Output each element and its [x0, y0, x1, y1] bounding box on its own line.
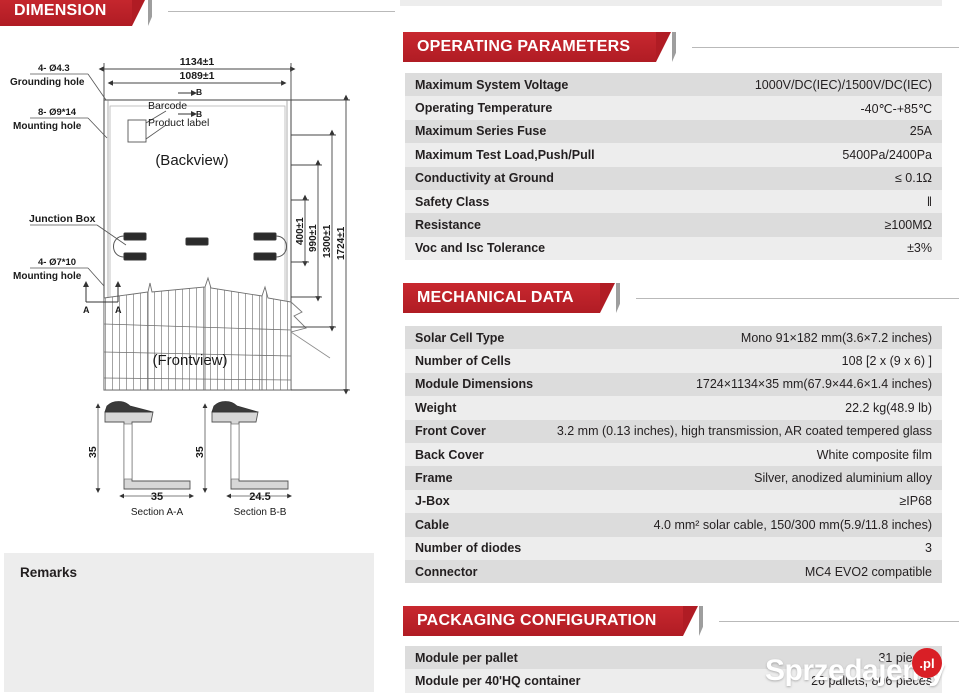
packaging-configuration-banner: PACKAGING CONFIGURATION: [403, 606, 959, 636]
dim-400: 400±1: [295, 217, 306, 245]
operating-parameter-value: 1000V/DC(IEC)/1500V/DC(IEC): [755, 78, 932, 92]
dimension-banner-label: DIMENSION: [0, 0, 132, 26]
table-row: Voc and Isc Tolerance±3%: [405, 237, 942, 260]
mechanical-data-value: ≥IP68: [899, 494, 932, 508]
section-a-width: 35: [151, 491, 163, 503]
mounting-hole-label-2: Mounting hole: [13, 271, 82, 282]
dim-1300: 1300±1: [322, 224, 333, 258]
mechanical-data-label: J-Box: [415, 494, 450, 508]
section-marker-a1: A: [83, 305, 90, 315]
junction-box-callout: Junction Box: [29, 213, 96, 225]
banner-chevron-icon: [699, 606, 725, 636]
specifications-panel: OPERATING PARAMETERS Maximum System Volt…: [400, 0, 960, 699]
section-marker-a2: A: [115, 305, 122, 315]
banner-rule: [636, 298, 959, 299]
frontview-cells: [104, 278, 291, 390]
dimension-banner: DIMENSION: [0, 0, 395, 26]
operating-parameter-value: -40℃-+85℃: [860, 101, 932, 116]
mechanical-data-value: 3.2 mm (0.13 inches), high transmission,…: [557, 424, 932, 438]
operating-parameter-value: ≤ 0.1Ω: [895, 171, 932, 185]
grounding-hole-spec: 4- Ø4.3: [38, 63, 70, 74]
operating-parameter-value: ±3%: [907, 241, 932, 255]
banner-chevron-icon: [616, 283, 642, 313]
table-row: Solar Cell TypeMono 91×182 mm(3.6×7.2 in…: [405, 326, 942, 349]
mechanical-data-value: Silver, anodized aluminium alloy: [754, 471, 932, 485]
dimension-panel: DIMENSION: [0, 0, 395, 699]
mechanical-data-value: Mono 91×182 mm(3.6×7.2 inches): [741, 331, 932, 345]
table-row: Module per 40'HQ container26 pallets, 80…: [405, 669, 942, 692]
table-row: Front Cover3.2 mm (0.13 inches), high tr…: [405, 420, 942, 443]
mechanical-data-value: 108 [2 x (9 x 6) ]: [842, 354, 932, 368]
mechanical-data-label: Number of diodes: [415, 541, 521, 555]
operating-parameter-label: Resistance: [415, 218, 481, 232]
backview-label: (Backview): [155, 152, 228, 169]
section-marker-b2: B: [196, 109, 202, 119]
dim-width-outer: 1134±1: [180, 56, 215, 68]
operating-parameter-value: ≥100MΩ: [885, 218, 932, 232]
section-b-height: 35: [194, 446, 206, 458]
mechanical-data-label: Module Dimensions: [415, 377, 533, 391]
packaging-configuration-value: 31 pieces: [878, 651, 932, 665]
grounding-hole-label: Grounding hole: [10, 77, 85, 88]
remarks-title: Remarks: [20, 565, 77, 580]
dim-990: 990±1: [308, 224, 319, 252]
operating-parameters-banner-label: OPERATING PARAMETERS: [403, 32, 656, 62]
table-row: Safety Class‖: [405, 190, 942, 213]
table-row: Module per pallet31 pieces: [405, 646, 942, 669]
dim-1724: 1724±1: [336, 226, 347, 260]
banner-rule: [719, 621, 959, 622]
mechanical-data-banner-label: MECHANICAL DATA: [403, 283, 600, 313]
mechanical-data-label: Front Cover: [415, 424, 486, 438]
banner-rule: [168, 11, 395, 12]
operating-parameters-table: Maximum System Voltage1000V/DC(IEC)/1500…: [405, 73, 942, 260]
mechanical-data-label: Back Cover: [415, 448, 484, 462]
operating-parameter-label: Voc and Isc Tolerance: [415, 241, 545, 255]
mounting-hole-label-1: Mounting hole: [13, 121, 82, 132]
table-row: Weight22.2 kg(48.9 lb): [405, 396, 942, 419]
operating-parameters-banner: OPERATING PARAMETERS: [403, 32, 959, 62]
section-b-name: Section B-B: [234, 507, 287, 518]
mechanical-data-label: Number of Cells: [415, 354, 511, 368]
banner-rule: [692, 47, 959, 48]
mechanical-data-value: MC4 EVO2 compatible: [805, 565, 932, 579]
operating-parameter-label: Conductivity at Ground: [415, 171, 554, 185]
section-a-height: 35: [87, 446, 99, 458]
mechanical-data-value: White composite film: [817, 448, 932, 462]
table-row: Maximum Test Load,Push/Pull5400Pa/2400Pa: [405, 143, 942, 166]
section-a-a-detail: 35 35 Section A-A: [87, 402, 190, 519]
packaging-configuration-table: Module per pallet31 piecesModule per 40'…: [405, 646, 942, 693]
operating-parameter-value: 5400Pa/2400Pa: [842, 148, 932, 162]
mechanical-data-value: 1724×1134×35 mm(67.9×44.6×1.4 inches): [696, 377, 932, 391]
mechanical-data-value: 4.0 mm² solar cable, 150/300 mm(5.9/11.8…: [654, 518, 932, 532]
mechanical-data-label: Frame: [415, 471, 453, 485]
operating-parameter-label: Maximum System Voltage: [415, 78, 568, 92]
mounting-hole-spec-2: 4- Ø7*10: [38, 257, 76, 268]
mechanical-data-label: Solar Cell Type: [415, 331, 504, 345]
mechanical-data-label: Weight: [415, 401, 456, 415]
table-row: Number of diodes3: [405, 537, 942, 560]
table-row: ConnectorMC4 EVO2 compatible: [405, 560, 942, 583]
packaging-configuration-value: 26 pallets, 806 pieces: [811, 674, 932, 688]
section-b-b-detail: 35 24.5 Section B-B: [194, 402, 288, 519]
operating-parameter-value: ‖: [927, 195, 932, 209]
table-row: FrameSilver, anodized aluminium alloy: [405, 466, 942, 489]
table-row: Number of Cells108 [2 x (9 x 6) ]: [405, 349, 942, 372]
table-row: J-Box≥IP68: [405, 490, 942, 513]
frontview-label: (Frontview): [152, 352, 227, 369]
table-row: Cable4.0 mm² solar cable, 150/300 mm(5.9…: [405, 513, 942, 536]
table-row: Module Dimensions1724×1134×35 mm(67.9×44…: [405, 373, 942, 396]
table-row: Maximum Series Fuse25A: [405, 120, 942, 143]
table-row: Operating Temperature-40℃-+85℃: [405, 96, 942, 119]
operating-parameter-label: Maximum Test Load,Push/Pull: [415, 148, 595, 162]
operating-parameter-value: 25A: [910, 124, 932, 138]
banner-chevron-icon: [672, 32, 698, 62]
mechanical-data-table: Solar Cell TypeMono 91×182 mm(3.6×7.2 in…: [405, 326, 942, 583]
packaging-configuration-label: Module per pallet: [415, 651, 518, 665]
mechanical-data-label: Connector: [415, 565, 478, 579]
table-row: Maximum System Voltage1000V/DC(IEC)/1500…: [405, 73, 942, 96]
dim-width-inner: 1089±1: [180, 70, 215, 82]
remarks-box: Remarks: [4, 553, 374, 692]
mechanical-data-value: 22.2 kg(48.9 lb): [845, 401, 932, 415]
operating-parameter-label: Safety Class: [415, 195, 489, 209]
section-marker-b1: B: [196, 87, 202, 97]
section-b-width: 24.5: [249, 491, 270, 503]
table-row: Back CoverWhite composite film: [405, 443, 942, 466]
table-row: Resistance≥100MΩ: [405, 213, 942, 236]
mounting-hole-spec-1: 8- Ø9*14: [38, 107, 77, 118]
section-a-name: Section A-A: [131, 507, 184, 518]
datasheet-page: DIMENSION: [0, 0, 960, 699]
barcode-callout: Barcode: [148, 100, 187, 112]
packaging-configuration-label: Module per 40'HQ container: [415, 674, 581, 688]
table-row: Conductivity at Ground≤ 0.1Ω: [405, 167, 942, 190]
operating-parameter-label: Maximum Series Fuse: [415, 124, 546, 138]
mechanical-data-value: 3: [925, 541, 932, 555]
banner-chevron-icon: [148, 0, 174, 26]
packaging-configuration-banner-label: PACKAGING CONFIGURATION: [403, 606, 683, 636]
module-technical-drawing: 1134±1 1089±1 (Backview) (Frontview): [0, 40, 395, 570]
operating-parameter-label: Operating Temperature: [415, 101, 552, 115]
mechanical-data-label: Cable: [415, 518, 449, 532]
mechanical-data-banner: MECHANICAL DATA: [403, 283, 959, 313]
